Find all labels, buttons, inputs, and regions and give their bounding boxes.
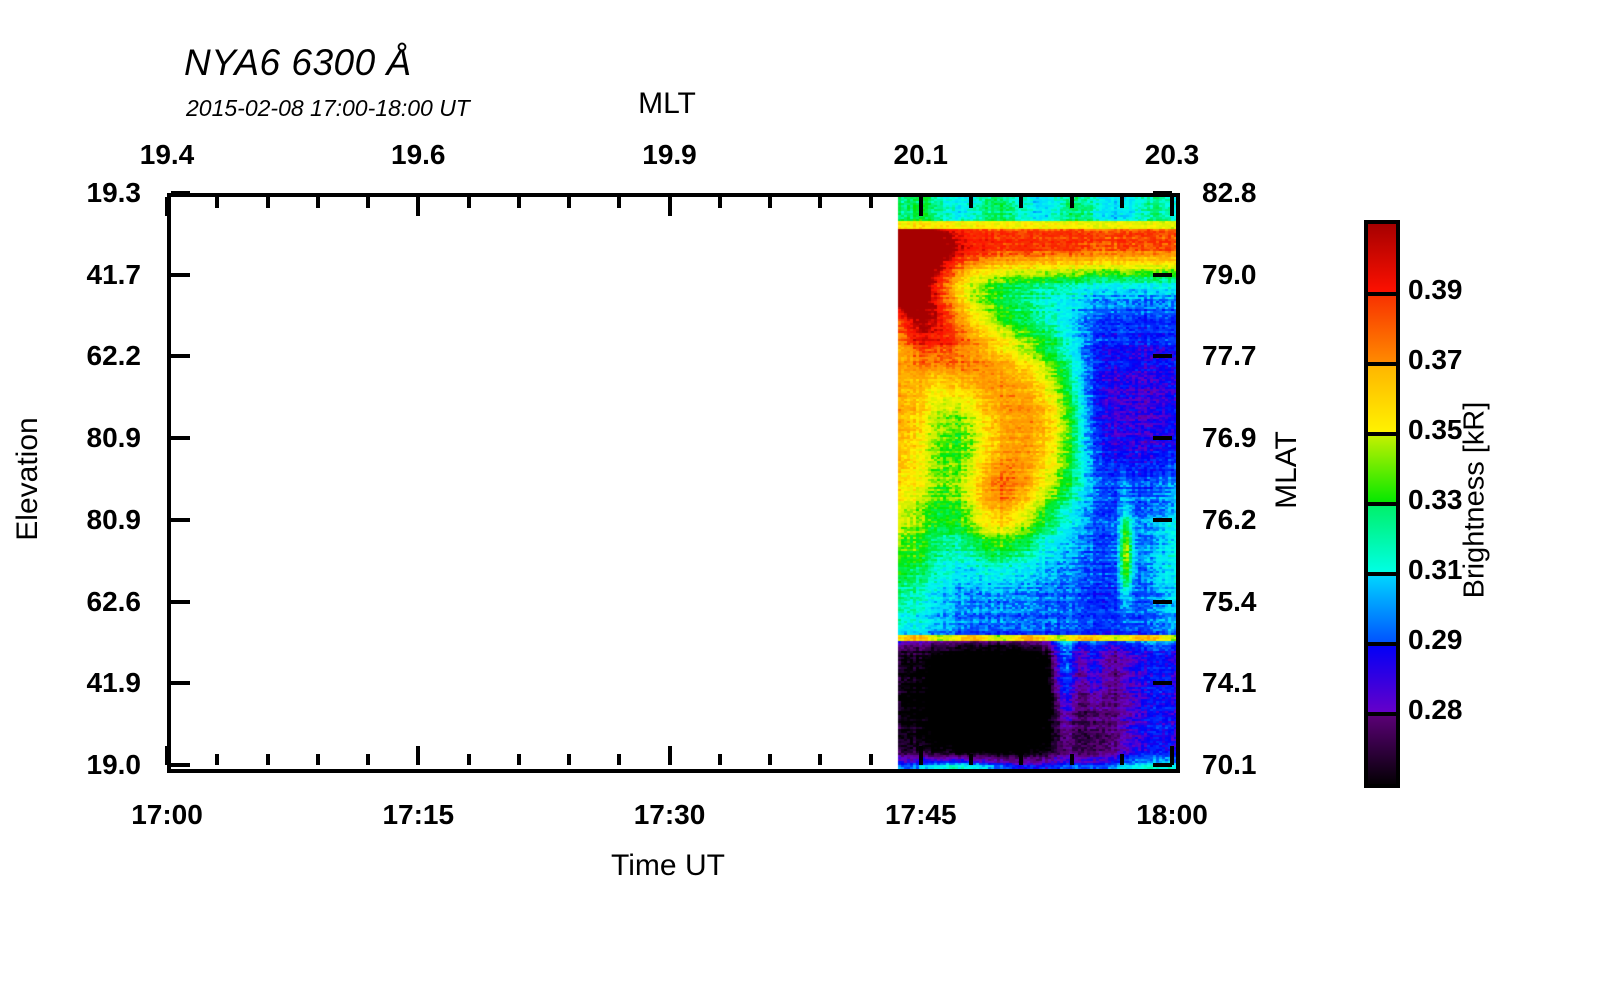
- top-axis-minor-tick: [969, 197, 973, 208]
- bottom-axis-minor-tick: [718, 754, 722, 765]
- bottom-axis-tick-label: 17:45: [885, 799, 957, 831]
- colorbar-segment: [1368, 434, 1396, 504]
- right-axis-major-tick: [1153, 681, 1172, 685]
- right-axis-major-tick: [1153, 763, 1172, 767]
- colorbar-segment: [1368, 574, 1396, 644]
- bottom-axis-minor-tick: [1019, 754, 1023, 765]
- bottom-axis-major-tick: [668, 746, 672, 765]
- left-axis-major-tick: [171, 436, 190, 440]
- bottom-axis-minor-tick: [869, 754, 873, 765]
- colorbar-title: Brightness [kR]: [1459, 402, 1492, 599]
- left-axis-tick-label: 19.3: [87, 177, 142, 209]
- top-axis-minor-tick: [1070, 197, 1074, 208]
- top-axis-tick-label: 20.3: [1145, 139, 1200, 171]
- right-axis-tick-label: 74.1: [1202, 667, 1257, 699]
- colorbar-tick-label: 0.37: [1408, 344, 1463, 376]
- colorbar-divider: [1368, 712, 1396, 716]
- right-axis-tick-label: 79.0: [1202, 259, 1257, 291]
- colorbar-tick-label: 0.29: [1408, 624, 1463, 656]
- plot-area: [167, 193, 1180, 773]
- right-axis-major-tick: [1153, 273, 1172, 277]
- right-axis-tick-label: 75.4: [1202, 586, 1257, 618]
- top-axis-minor-tick: [366, 197, 370, 208]
- bottom-axis-minor-tick: [517, 754, 521, 765]
- colorbar-segment: [1368, 364, 1396, 434]
- bottom-axis-major-tick: [165, 746, 169, 765]
- right-axis-tick-label: 77.7: [1202, 340, 1257, 372]
- top-axis-tick-label: 19.9: [642, 139, 697, 171]
- top-axis-major-tick: [416, 197, 420, 216]
- top-axis-minor-tick: [266, 197, 270, 208]
- bottom-axis-minor-tick: [818, 754, 822, 765]
- right-axis-major-tick: [1153, 436, 1172, 440]
- colorbar-segment: [1368, 224, 1396, 294]
- top-axis-minor-tick: [215, 197, 219, 208]
- left-axis-tick-label: 80.9: [87, 504, 142, 536]
- bottom-axis-tick-label: 17:30: [634, 799, 706, 831]
- colorbar-segment: [1368, 714, 1396, 784]
- colorbar-tick-label: 0.31: [1408, 554, 1463, 586]
- top-axis-major-tick: [1170, 197, 1174, 216]
- colorbar-divider: [1368, 362, 1396, 366]
- top-axis-minor-tick: [1019, 197, 1023, 208]
- bottom-axis-minor-tick: [1070, 754, 1074, 765]
- top-axis-major-tick: [165, 197, 169, 216]
- colorbar-tick-label: 0.28: [1408, 694, 1463, 726]
- figure-subtitle: 2015-02-08 17:00-18:00 UT: [186, 95, 470, 122]
- bottom-axis-title: Time UT: [611, 849, 725, 883]
- top-axis-minor-tick: [517, 197, 521, 208]
- top-axis-minor-tick: [768, 197, 772, 208]
- top-axis-tick-label: 19.6: [391, 139, 446, 171]
- top-axis-minor-tick: [567, 197, 571, 208]
- left-axis-major-tick: [171, 600, 190, 604]
- left-axis-major-tick: [171, 518, 190, 522]
- bottom-axis-major-tick: [919, 746, 923, 765]
- left-axis-tick-label: 41.9: [87, 667, 142, 699]
- top-axis-major-tick: [919, 197, 923, 216]
- bottom-axis-minor-tick: [467, 754, 471, 765]
- right-axis-tick-label: 82.8: [1202, 177, 1257, 209]
- colorbar-tick-label: 0.35: [1408, 414, 1463, 446]
- colorbar-divider: [1368, 292, 1396, 296]
- colorbar-divider: [1368, 432, 1396, 436]
- left-axis-major-tick: [171, 191, 190, 195]
- figure-title: NYA6 6300 Å: [184, 42, 412, 84]
- keogram-image: [171, 197, 1176, 769]
- top-axis-minor-tick: [869, 197, 873, 208]
- bottom-axis-minor-tick: [316, 754, 320, 765]
- right-axis-major-tick: [1153, 518, 1172, 522]
- colorbar-tick-label: 0.39: [1408, 274, 1463, 306]
- top-axis-tick-label: 20.1: [894, 139, 949, 171]
- top-axis-tick-label: 19.4: [140, 139, 195, 171]
- bottom-axis-minor-tick: [969, 754, 973, 765]
- colorbar-divider: [1368, 572, 1396, 576]
- bottom-axis-tick-label: 17:00: [131, 799, 203, 831]
- colorbar-segment: [1368, 294, 1396, 364]
- bottom-axis-tick-label: 17:15: [382, 799, 454, 831]
- bottom-axis-minor-tick: [567, 754, 571, 765]
- top-axis-minor-tick: [1120, 197, 1124, 208]
- bottom-axis-minor-tick: [617, 754, 621, 765]
- bottom-axis-major-tick: [416, 746, 420, 765]
- bottom-axis-minor-tick: [266, 754, 270, 765]
- bottom-axis-minor-tick: [366, 754, 370, 765]
- top-axis-minor-tick: [467, 197, 471, 208]
- colorbar-tick-label: 0.33: [1408, 484, 1463, 516]
- left-axis-major-tick: [171, 763, 190, 767]
- right-axis-major-tick: [1153, 600, 1172, 604]
- left-axis-title: Elevation: [11, 417, 45, 540]
- right-axis-tick-label: 76.9: [1202, 422, 1257, 454]
- top-axis-major-tick: [668, 197, 672, 216]
- colorbar-segment: [1368, 644, 1396, 714]
- right-axis-tick-label: 70.1: [1202, 749, 1257, 781]
- colorbar-divider: [1368, 642, 1396, 646]
- right-axis-major-tick: [1153, 354, 1172, 358]
- top-axis-minor-tick: [818, 197, 822, 208]
- bottom-axis-minor-tick: [1120, 754, 1124, 765]
- top-axis-minor-tick: [718, 197, 722, 208]
- right-axis-tick-label: 76.2: [1202, 504, 1257, 536]
- left-axis-tick-label: 19.0: [87, 749, 142, 781]
- right-axis-title: MLAT: [1270, 431, 1304, 509]
- bottom-axis-minor-tick: [215, 754, 219, 765]
- left-axis-major-tick: [171, 681, 190, 685]
- top-axis-minor-tick: [617, 197, 621, 208]
- left-axis-tick-label: 41.7: [87, 259, 142, 291]
- left-axis-tick-label: 62.2: [87, 340, 142, 372]
- left-axis-major-tick: [171, 273, 190, 277]
- bottom-axis-minor-tick: [768, 754, 772, 765]
- left-axis-tick-label: 62.6: [87, 586, 142, 618]
- left-axis-major-tick: [171, 354, 190, 358]
- bottom-axis-tick-label: 18:00: [1136, 799, 1208, 831]
- keogram-figure: NYA6 6300 Å 2015-02-08 17:00-18:00 UT ML…: [0, 0, 1600, 1000]
- top-axis-title: MLT: [638, 87, 696, 121]
- colorbar: [1364, 220, 1400, 788]
- colorbar-segment: [1368, 504, 1396, 574]
- top-axis-minor-tick: [316, 197, 320, 208]
- colorbar-divider: [1368, 502, 1396, 506]
- right-axis-major-tick: [1153, 191, 1172, 195]
- left-axis-tick-label: 80.9: [87, 422, 142, 454]
